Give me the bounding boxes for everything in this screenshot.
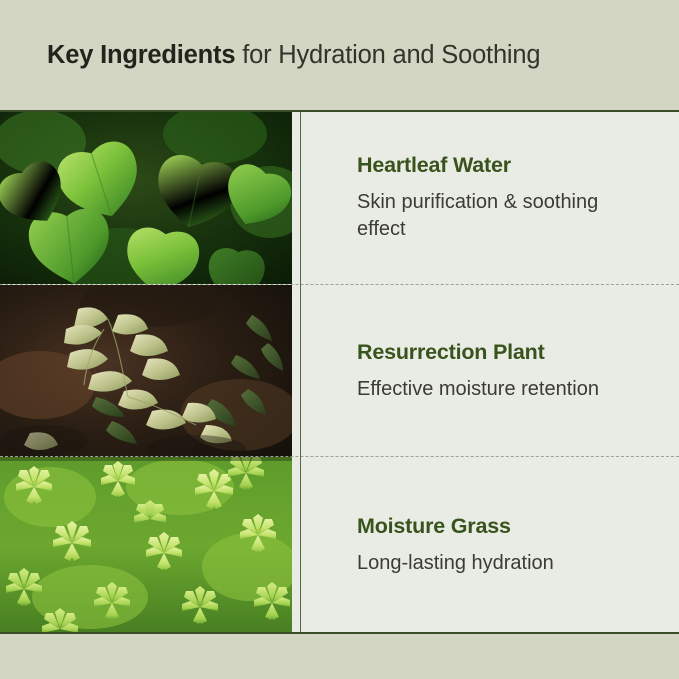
- ingredients-infographic: Key Ingredients for Hydration and Soothi…: [0, 0, 679, 679]
- ingredient-description: Effective moisture retention: [357, 376, 607, 403]
- footer-divider-rule: [0, 632, 679, 634]
- ingredient-photo-resurrection: [0, 285, 292, 457]
- row-divider-1: [0, 284, 679, 285]
- ingredient-name: Resurrection Plant: [357, 340, 659, 366]
- resurrection-plant-illustration: [0, 285, 292, 457]
- ingredient-photo-heartleaf: [0, 112, 292, 284]
- ingredient-name: Moisture Grass: [357, 514, 659, 540]
- ingredient-description: Long-lasting hydration: [357, 550, 607, 577]
- ingredient-description: Skin purification & soothing effect: [357, 189, 607, 243]
- moisture-grass-illustration: [0, 457, 292, 633]
- row-divider-2: [0, 456, 679, 457]
- ingredient-row: Heartleaf Water Skin purification & soot…: [0, 112, 679, 284]
- ingredient-row: Resurrection Plant Effective moisture re…: [0, 285, 679, 457]
- page-title-rest: for Hydration and Soothing: [235, 41, 540, 69]
- ingredient-text-heartleaf: Heartleaf Water Skin purification & soot…: [292, 112, 679, 284]
- ingredient-row: Moisture Grass Long-lasting hydration: [0, 457, 679, 633]
- ingredients-panel: Heartleaf Water Skin purification & soot…: [0, 112, 679, 633]
- page-title-bold: Key Ingredients: [47, 41, 235, 69]
- ingredient-text-moisture-grass: Moisture Grass Long-lasting hydration: [292, 457, 679, 633]
- heartleaf-leaves-illustration: [0, 112, 292, 284]
- header-band: Key Ingredients for Hydration and Soothi…: [0, 0, 679, 110]
- header-divider-rule: [0, 110, 679, 112]
- ingredient-photo-moisture-grass: [0, 457, 292, 633]
- ingredient-text-resurrection: Resurrection Plant Effective moisture re…: [292, 285, 679, 457]
- column-divider: [300, 112, 301, 633]
- page-title: Key Ingredients for Hydration and Soothi…: [47, 40, 540, 71]
- ingredient-name: Heartleaf Water: [357, 153, 659, 179]
